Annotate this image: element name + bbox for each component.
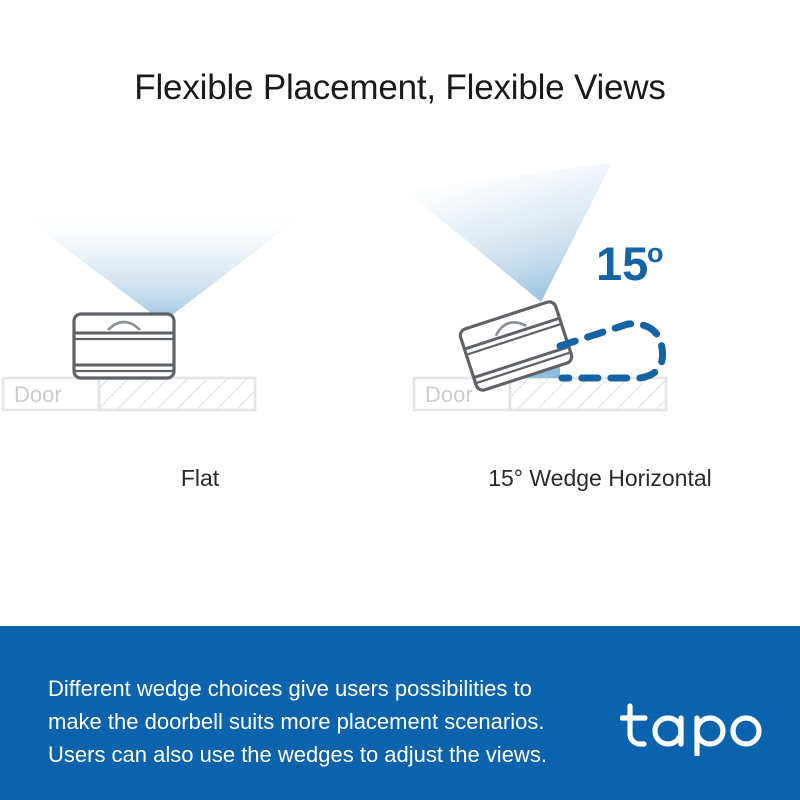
door-label-left: Door	[14, 382, 62, 407]
panel-flat: Door Flat	[0, 150, 400, 520]
tapo-logo	[620, 700, 770, 756]
illustration-stage: Door Flat	[0, 150, 800, 520]
field-of-view-cone	[17, 212, 307, 322]
door-label-right: Door	[425, 382, 473, 407]
caption-wedge-15: 15° Wedge Horizontal	[400, 465, 800, 492]
angle-annotation: 15 o	[596, 237, 664, 290]
flat-illustration: Door	[0, 150, 400, 490]
field-of-view-cone	[405, 163, 612, 302]
wedge-illustration: 15 o Door	[400, 150, 800, 490]
angle-value: 15	[596, 237, 648, 290]
page-title: Flexible Placement, Flexible Views	[0, 67, 800, 109]
angle-guide-dashed	[560, 324, 663, 378]
doorbell-device	[74, 314, 174, 378]
panel-wedge-15: 15 o Door 15° Wedge Horizontal	[400, 150, 800, 520]
footer-description: Different wedge choices give users possi…	[48, 672, 578, 771]
infographic-page: Flexible Placement, Flexible Views	[0, 0, 800, 800]
caption-flat: Flat	[0, 465, 400, 492]
degree-symbol: o	[647, 238, 664, 268]
footer-banner: Different wedge choices give users possi…	[0, 626, 800, 800]
tapo-wordmark-icon	[620, 700, 770, 756]
